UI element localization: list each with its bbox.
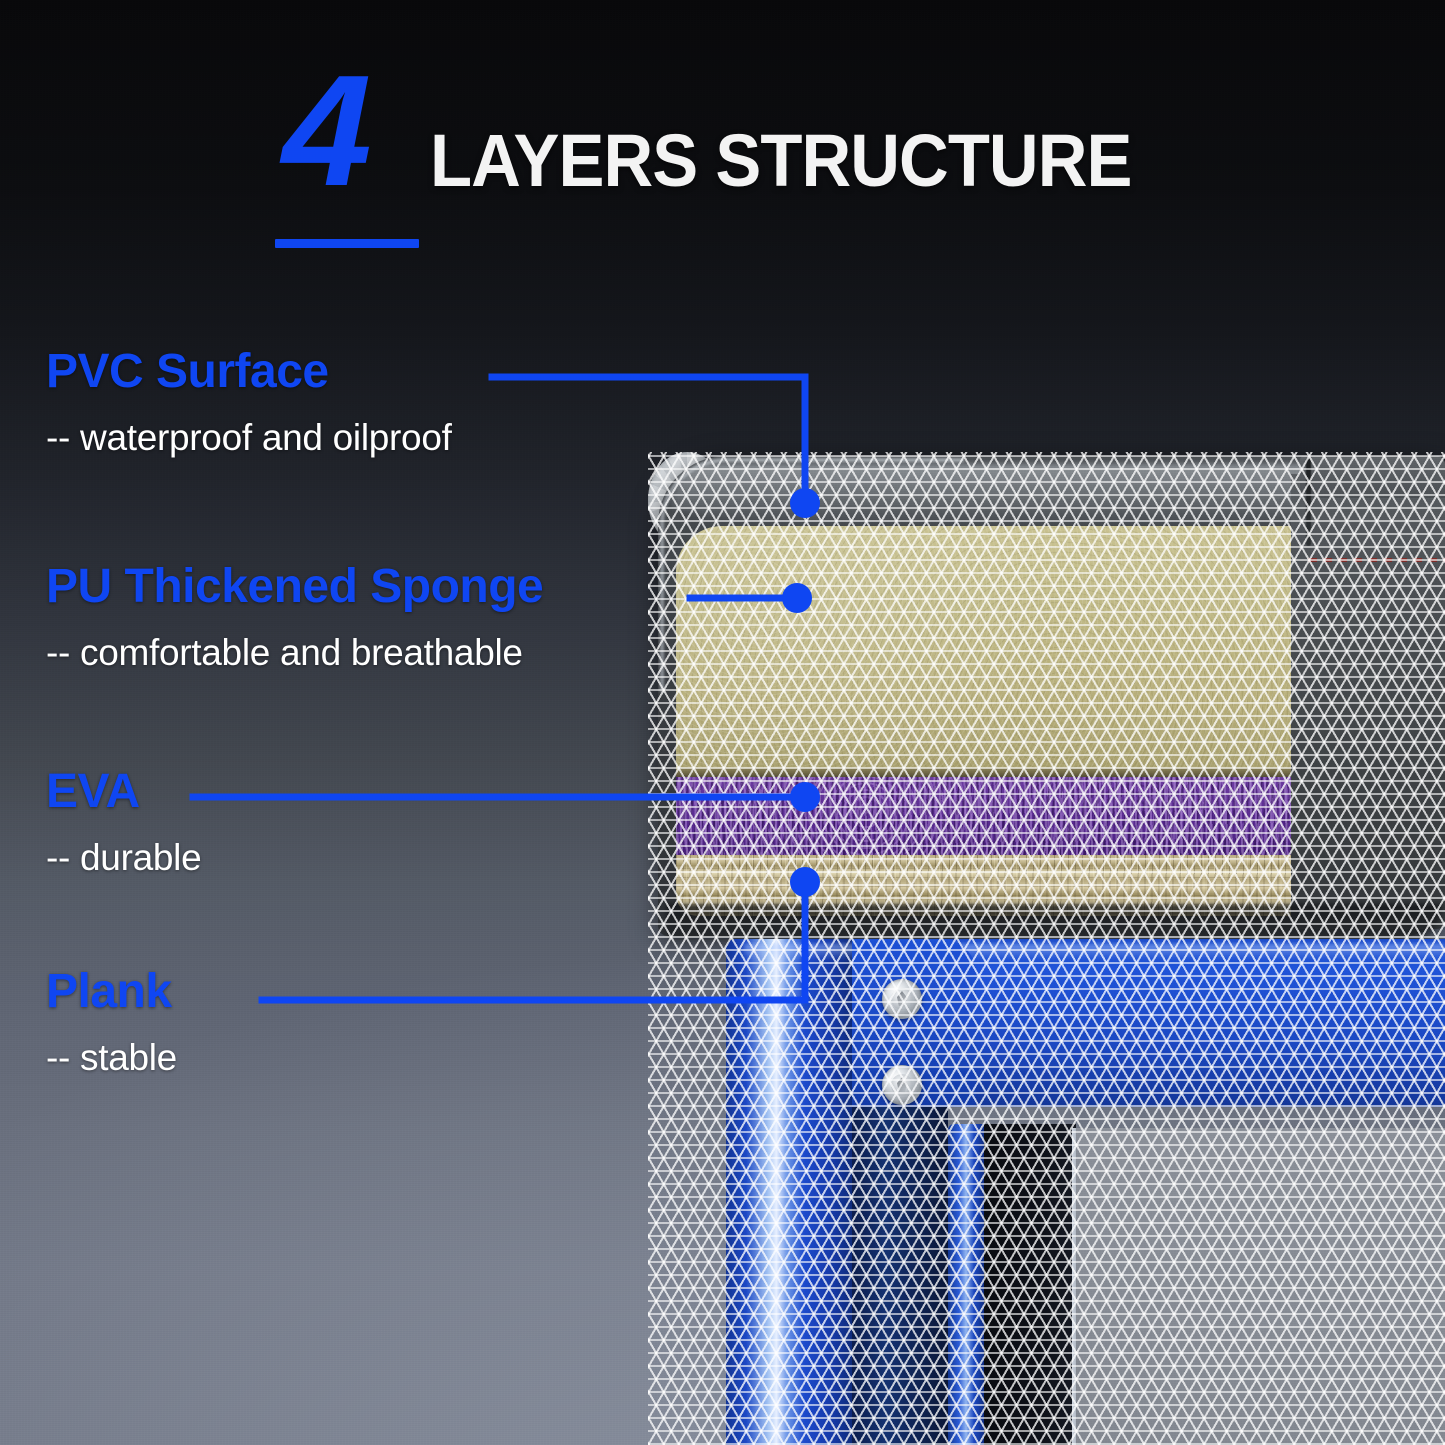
page-header: 4 LAYERS STRUCTURE xyxy=(0,34,1445,234)
layer-count-number: 4 xyxy=(282,52,366,210)
infographic-canvas: 4 LAYERS STRUCTURE PVC Surface -- waterp… xyxy=(0,0,1445,1445)
layer-subtitle: -- durable xyxy=(46,839,201,878)
layer-title: PVC Surface xyxy=(46,348,452,397)
layer-title: Plank xyxy=(46,968,177,1017)
layer-label-pu-thickened-sponge: PU Thickened Sponge -- comfortable and b… xyxy=(46,563,543,673)
layer-title: PU Thickened Sponge xyxy=(46,563,543,612)
page-title: LAYERS STRUCTURE xyxy=(430,124,1131,198)
layer-subtitle: -- stable xyxy=(46,1039,177,1078)
product-photo xyxy=(648,452,1445,1445)
reflector-disc xyxy=(648,452,726,548)
layer-subtitle: -- comfortable and breathable xyxy=(46,634,543,673)
layer-label-eva: EVA -- durable xyxy=(46,768,201,878)
layer-title: EVA xyxy=(46,768,201,817)
layer-subtitle: -- waterproof and oilproof xyxy=(46,419,452,458)
layer-label-plank: Plank -- stable xyxy=(46,968,177,1078)
title-underline-rule xyxy=(275,239,419,248)
layer-label-pvc-surface: PVC Surface -- waterproof and oilproof xyxy=(46,348,452,458)
